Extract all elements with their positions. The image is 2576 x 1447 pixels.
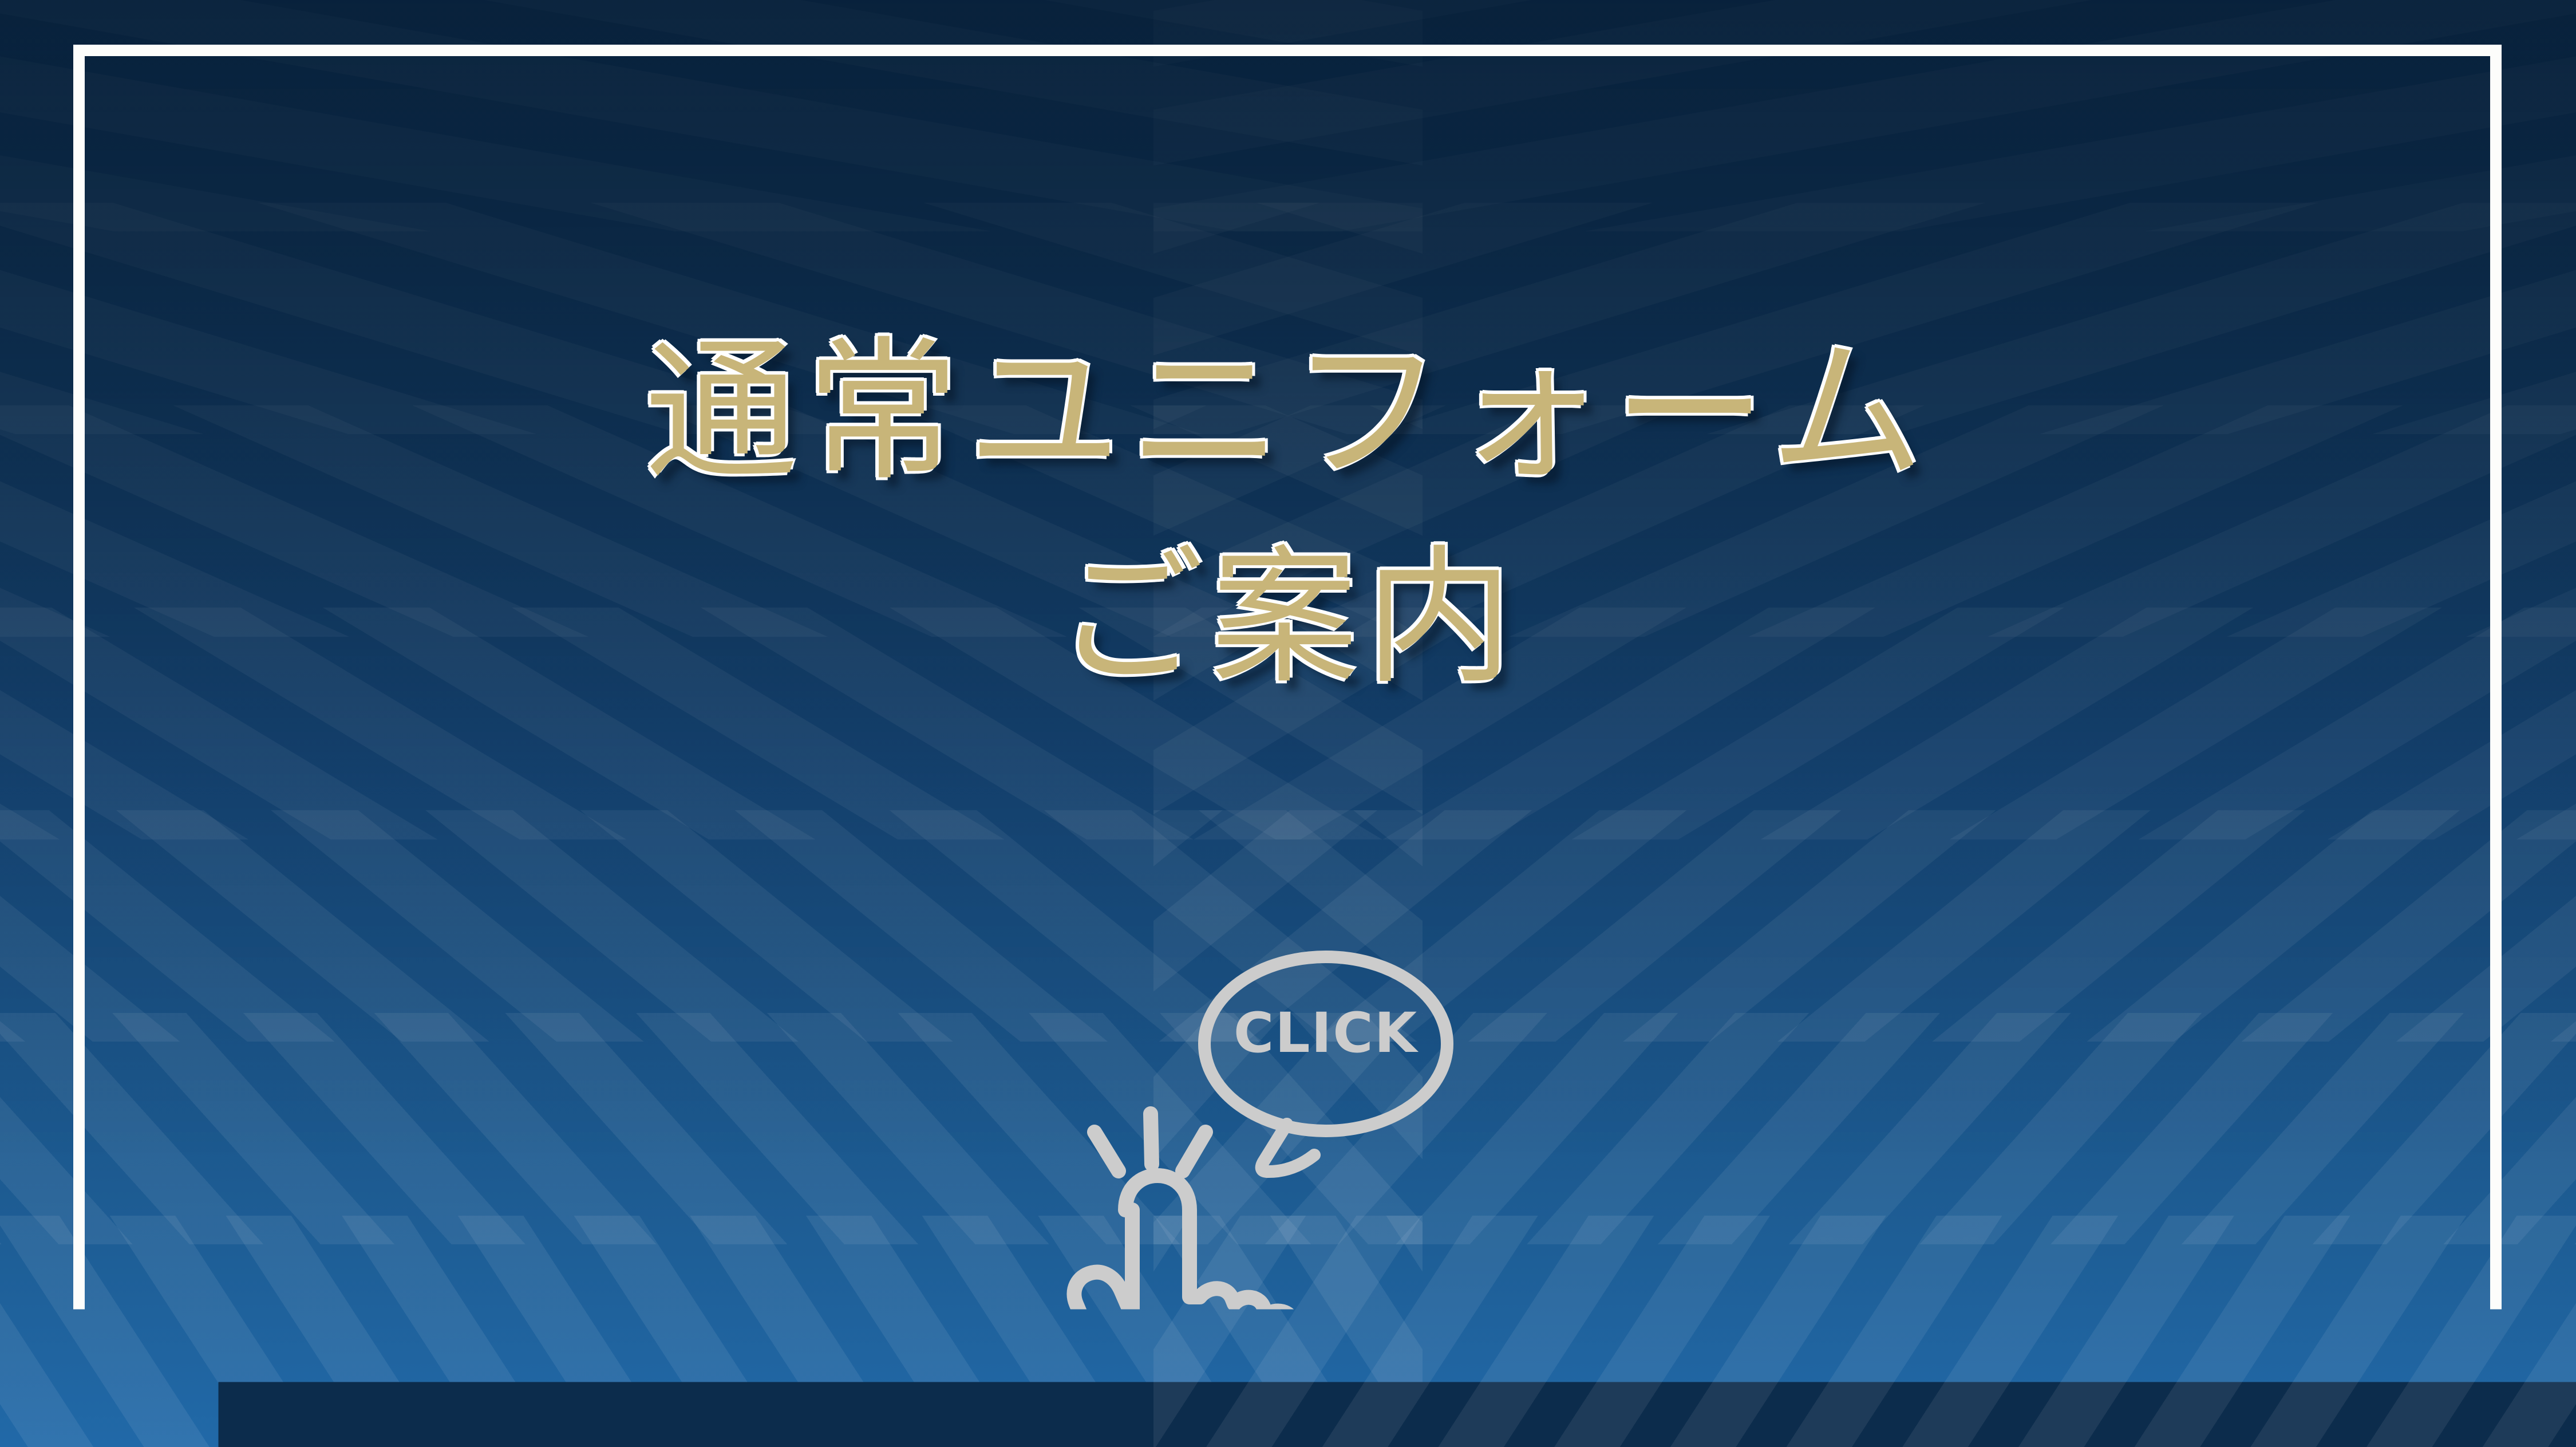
click-call-to-action[interactable]: CLICK — [1059, 919, 1506, 1377]
click-cluster-graphic — [1059, 919, 1506, 1377]
banner-headline: 通常ユニフォーム — [645, 337, 1931, 490]
click-motion-lines-icon — [1095, 1114, 1206, 1171]
pointing-hand-cursor-icon — [1074, 1176, 1295, 1377]
speech-bubble-icon — [1204, 957, 1447, 1172]
promo-banner[interactable]: 通常ユニフォーム ご案内 CLICK — [0, 0, 2576, 1447]
banner-subheadline: ご案内 — [1056, 545, 1520, 693]
